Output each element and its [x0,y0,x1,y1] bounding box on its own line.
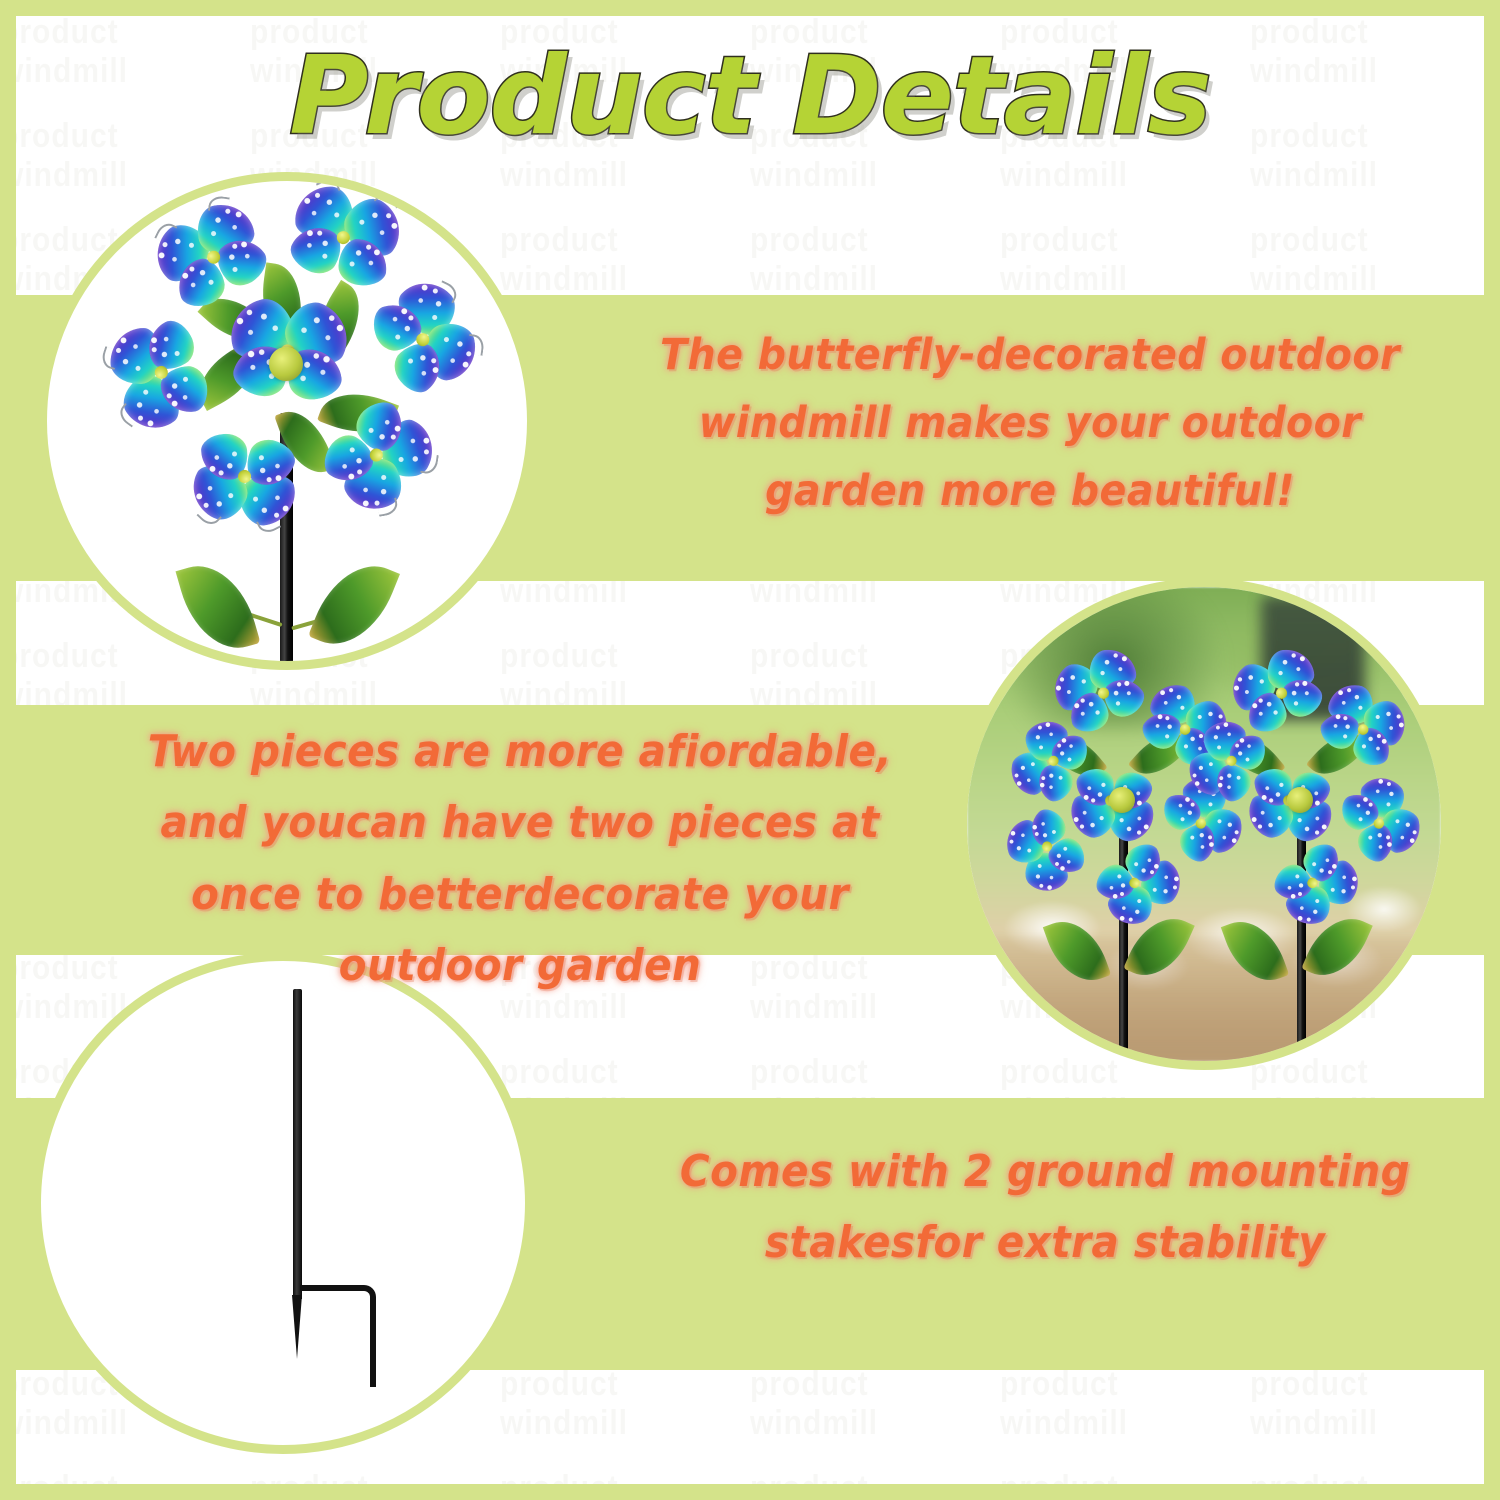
feature-caption-1: The butterfly-decorated outdoor windmill… [634,322,1425,526]
stake-prong [300,1285,376,1387]
windmill-hub [269,347,303,381]
lower-leaf-right [308,551,400,660]
product-details-poster: product windmillproduct windmillproduct … [0,0,1500,1500]
page-title: Product Details [0,42,1500,152]
garden-scene-canvas [967,587,1441,1061]
watermark-tile: product windmill [250,1448,500,1500]
watermark-tile: product windmill [0,1448,250,1500]
ground-stake-canvas [41,961,525,1445]
product-closeup-image [38,172,536,670]
stake-shaft [293,989,302,1299]
butterfly-6 [99,304,222,443]
watermark-tile: product windmill [750,1448,1000,1500]
garden-scene-image [958,578,1450,1070]
feature-caption-2: Two pieces are more afiordable, and youc… [106,716,934,1001]
product-closeup-canvas [47,181,527,661]
feature-caption-3: Comes with 2 ground mounting stakesfor e… [672,1136,1417,1279]
watermark-tile: product windmill [500,1448,750,1500]
butterfly-2 [275,181,412,297]
lower-leaf-left [176,554,261,660]
watermark-tile: product windmill [1250,1448,1500,1500]
butterfly-5 [181,423,309,530]
garden-windmill-right [967,587,1441,1061]
watermark-tile: product windmill [1000,1448,1250,1500]
ground-stake-image [32,952,534,1454]
